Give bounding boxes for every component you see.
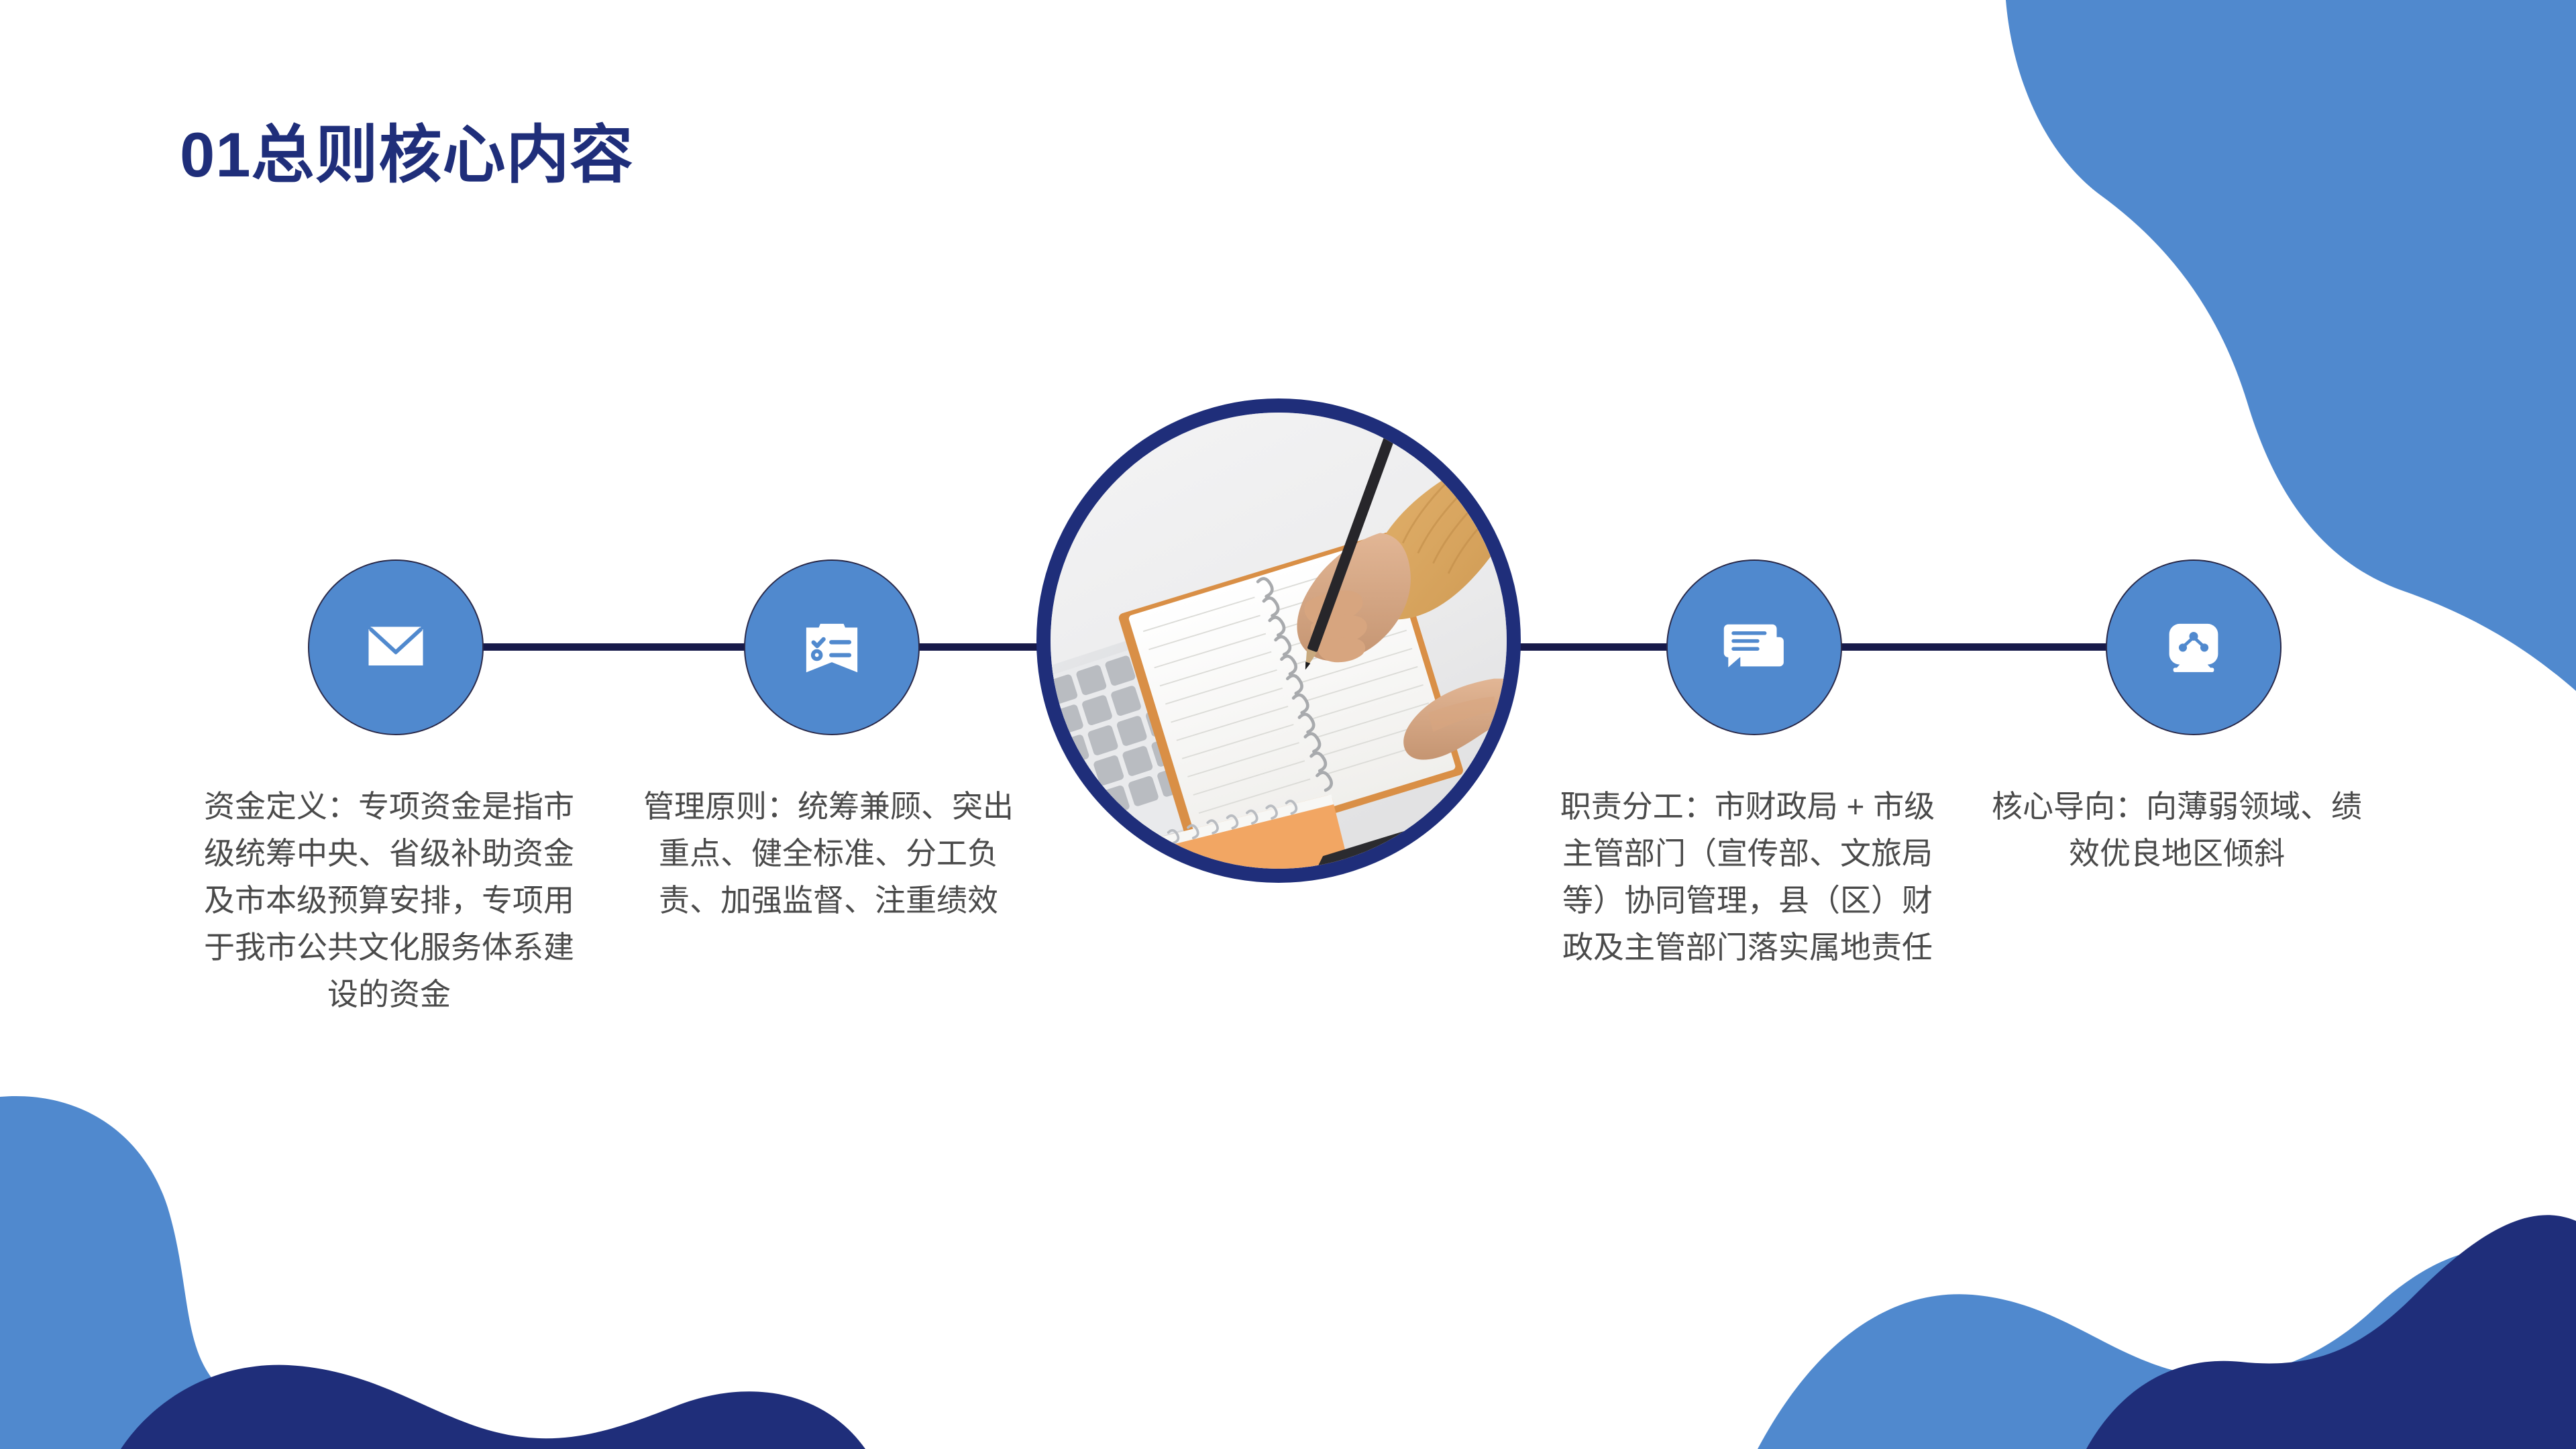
bottom-left-navy-wave — [121, 1365, 865, 1449]
top-right-blue-wave — [2006, 0, 2576, 691]
node-caption-2: 管理原则：统筹兼顾、突出重点、健全标准、分工负责、加强监督、注重绩效 — [641, 784, 1016, 924]
timeline-node-1[interactable] — [308, 559, 484, 735]
page-title: 01总则核心内容 — [180, 104, 634, 195]
chat-bubbles-icon — [1718, 611, 1790, 684]
node-caption-3: 职责分工：市财政局 + 市级主管部门（宣传部、文旅局等）协同管理，县（区）财政及… — [1553, 784, 1942, 971]
node-caption-4: 核心导向：向薄弱领域、绩效优良地区倾斜 — [1989, 784, 2365, 877]
timeline-node-2[interactable] — [744, 559, 920, 735]
timeline-node-3[interactable] — [1666, 559, 1842, 735]
network-chart-icon — [2159, 612, 2229, 682]
bottom-right-blue-wave — [1758, 1248, 2576, 1449]
center-photo-circle — [1036, 398, 1521, 883]
bottom-left-blue-blob — [0, 1096, 416, 1449]
desk-writing-photo — [1051, 413, 1507, 869]
bottom-right-navy-wave — [2086, 1215, 2576, 1449]
top-right-navy-blob — [2080, 0, 2576, 644]
checklist-bookmark-icon — [797, 612, 867, 682]
envelope-icon — [360, 611, 432, 684]
node-caption-1: 资金定义：专项资金是指市级统筹中央、省级补助资金及市本级预算安排，专项用于我市公… — [201, 784, 577, 1018]
timeline-node-4[interactable] — [2106, 559, 2282, 735]
